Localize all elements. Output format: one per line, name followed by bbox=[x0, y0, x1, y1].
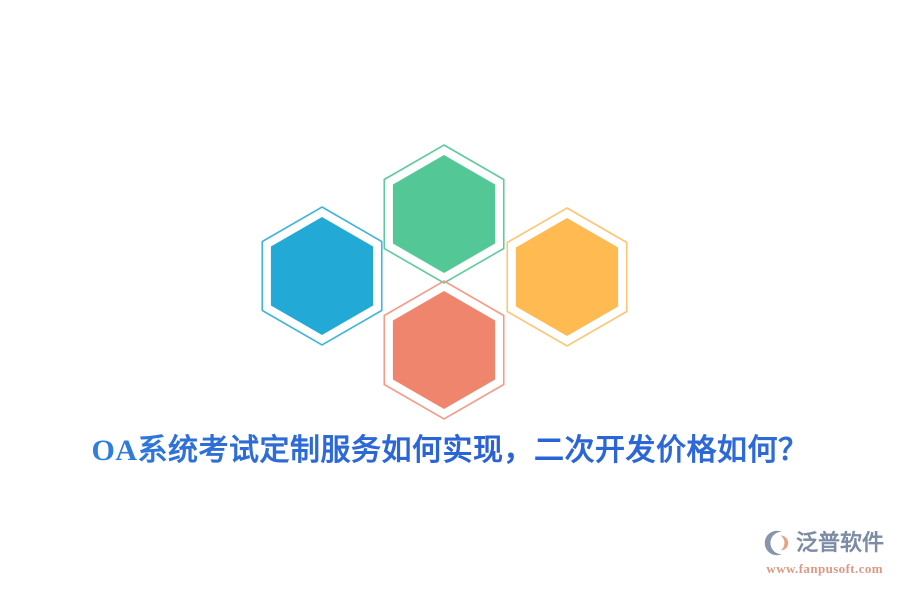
hexagon-orange-fill bbox=[516, 218, 618, 336]
banner-canvas: OA系统考试定制服务如何实现，二次开发价格如何？ 泛普软件 www.fanpus… bbox=[0, 0, 900, 600]
page-title: OA系统考试定制服务如何实现，二次开发价格如何？ bbox=[0, 429, 900, 473]
hexagon-green-fill bbox=[393, 155, 495, 273]
fanpu-logo-icon bbox=[761, 528, 791, 558]
hexagon-blue-fill bbox=[271, 217, 373, 335]
hexagon-salmon-fill bbox=[393, 291, 495, 409]
brand-name: 泛普软件 bbox=[796, 528, 884, 558]
brand-url: www.fanpusoft.com bbox=[734, 560, 884, 578]
brand-row: 泛普软件 bbox=[734, 526, 884, 560]
hexagon-green bbox=[384, 145, 504, 283]
hexagon-cluster bbox=[0, 0, 900, 430]
hexagon-blue bbox=[262, 207, 382, 345]
hexagon-orange bbox=[507, 208, 627, 346]
hexagon-salmon bbox=[384, 281, 504, 419]
brand-watermark: 泛普软件 www.fanpusoft.com bbox=[734, 526, 884, 588]
